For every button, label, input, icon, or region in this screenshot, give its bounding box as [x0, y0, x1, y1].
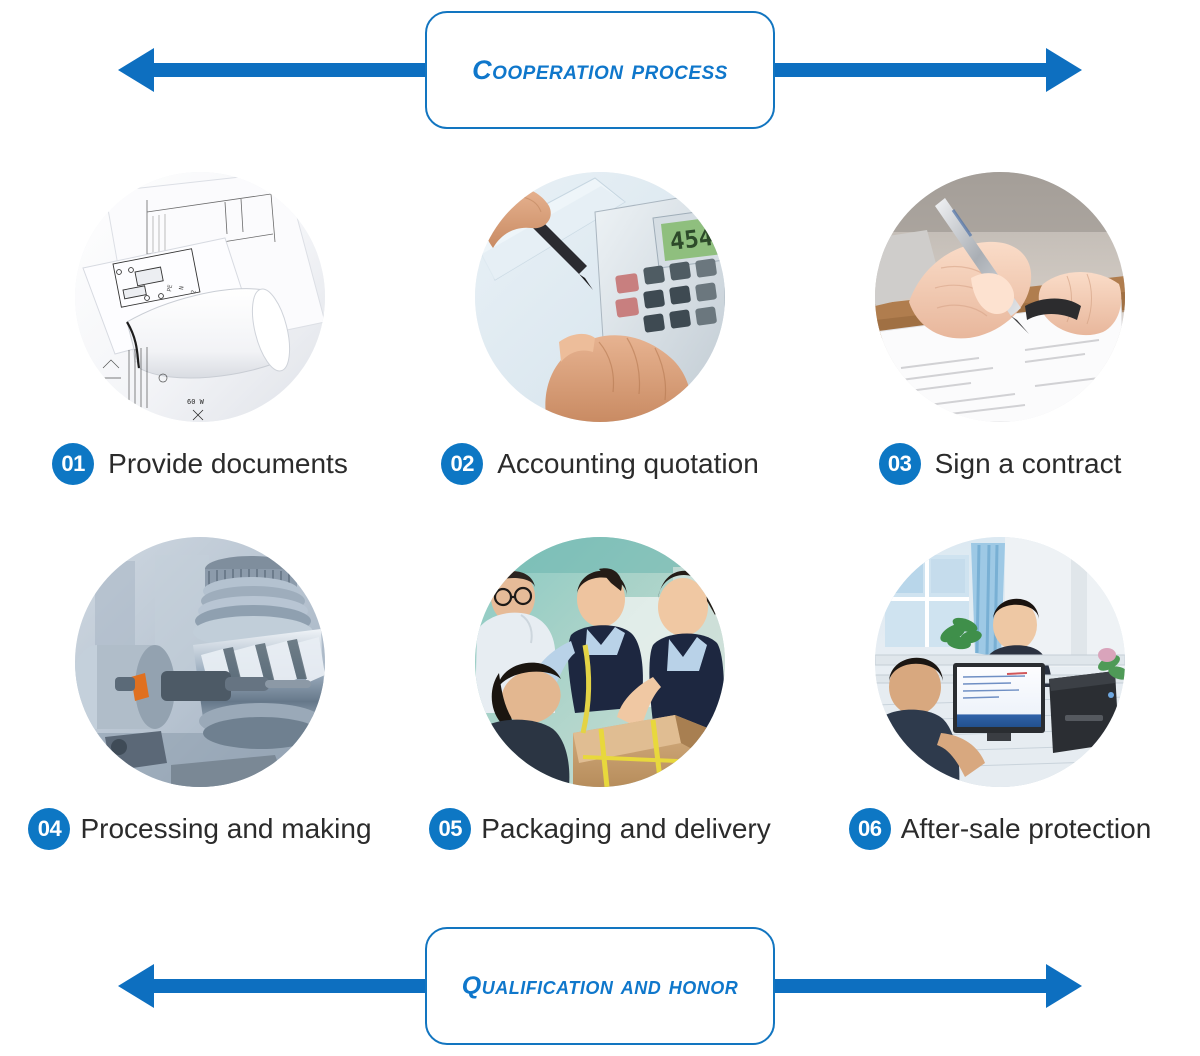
- arrow-shaft-left: [152, 979, 462, 993]
- step-number-badge-03: 03: [879, 443, 921, 485]
- step-label-05: Packaging and delivery: [481, 813, 771, 845]
- step-label-01: Provide documents: [108, 448, 348, 480]
- step-number-badge-06: 06: [849, 808, 891, 850]
- banner-title-bottom: Qualification and honor: [462, 972, 738, 1001]
- cooperation-process-banner: Cooperation process: [0, 0, 1200, 140]
- arrow-shaft-right: [742, 63, 1050, 77]
- qualification-and-honor-banner: Qualification and honor: [0, 916, 1200, 1056]
- signing-contract-photo: [875, 172, 1125, 422]
- process-step-02[interactable]: 4542: [400, 172, 800, 537]
- step-label-03: Sign a contract: [935, 448, 1122, 480]
- process-steps-row-1: PE N 2 60 W: [0, 172, 1200, 537]
- banner-title-box-bottom: Qualification and honor: [425, 927, 775, 1045]
- office-support-photo: [875, 537, 1125, 787]
- step-label-02: Accounting quotation: [497, 448, 759, 480]
- hand-calculator-photo: 4542: [475, 172, 725, 422]
- step-caption-02: 02 Accounting quotation: [441, 436, 759, 492]
- step-caption-03: 03 Sign a contract: [879, 436, 1122, 492]
- process-steps-row-2: 04 Processing and making: [0, 537, 1200, 902]
- process-step-06[interactable]: 06 After-sale protection: [800, 537, 1200, 902]
- banner-title-box-top: Cooperation process: [425, 11, 775, 129]
- packaging-workers-photo: [475, 537, 725, 787]
- process-step-01[interactable]: PE N 2 60 W: [0, 172, 400, 537]
- arrow-right-icon: [1046, 48, 1082, 92]
- step-caption-05: 05 Packaging and delivery: [429, 801, 771, 857]
- step-caption-06: 06 After-sale protection: [849, 801, 1152, 857]
- svg-text:60 W: 60 W: [187, 398, 205, 406]
- step-number-badge-04: 04: [28, 808, 70, 850]
- step-number-badge-01: 01: [52, 443, 94, 485]
- process-step-03[interactable]: 03 Sign a contract: [800, 172, 1200, 537]
- step-number-badge-05: 05: [429, 808, 471, 850]
- cnc-machining-photo: [75, 537, 325, 787]
- arrow-shaft-left: [152, 63, 462, 77]
- step-caption-01: 01 Provide documents: [52, 436, 348, 492]
- arrow-left-icon: [118, 964, 154, 1008]
- step-label-04: Processing and making: [80, 813, 371, 845]
- banner-title-top: Cooperation process: [472, 55, 728, 86]
- step-label-06: After-sale protection: [901, 813, 1152, 845]
- process-steps: PE N 2 60 W: [0, 172, 1200, 902]
- arrow-shaft-right: [742, 979, 1050, 993]
- rolled-blueprints-photo: PE N 2 60 W: [75, 172, 325, 422]
- step-number-badge-02: 02: [441, 443, 483, 485]
- arrow-right-icon: [1046, 964, 1082, 1008]
- process-step-04[interactable]: 04 Processing and making: [0, 537, 400, 902]
- process-step-05[interactable]: 05 Packaging and delivery: [400, 537, 800, 902]
- arrow-left-icon: [118, 48, 154, 92]
- step-caption-04: 04 Processing and making: [28, 801, 371, 857]
